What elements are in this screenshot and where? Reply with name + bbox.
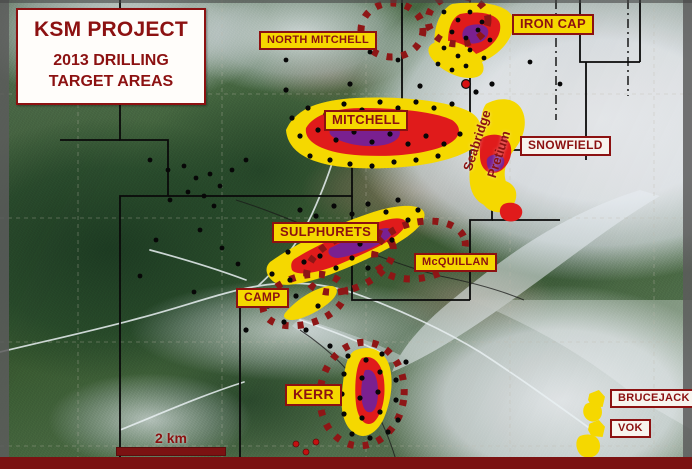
title-card: KSM PROJECT 2013 DRILLING TARGET AREAS [16,8,206,105]
target-label-kerr: KERR [285,384,342,406]
deposit-legend: BRUCEJACK VOK [588,387,686,447]
scale-bar-rule [116,447,226,456]
target-label-mcquillan: McQUILLAN [414,253,497,272]
title-main: KSM PROJECT [24,18,198,42]
target-label-snowfield: SNOWFIELD [520,136,611,156]
bottom-red-band [0,457,692,469]
map-figure: KSM PROJECT 2013 DRILLING TARGET AREAS N… [0,0,692,469]
legend-label-vok: VOK [610,419,651,438]
target-label-camp: CAMP [236,288,289,308]
scale-bar: 2 km [116,430,226,456]
legend-label-brucejack: BRUCEJACK [610,389,692,408]
target-label-north-mitchell: NORTH MITCHELL [259,31,377,50]
left-edge-strip [0,0,9,469]
legend-item-vok: VOK [588,417,686,441]
scale-bar-label: 2 km [116,430,226,446]
target-label-sulphurets: SULPHURETS [272,222,379,243]
mineralization-swatch-icon [588,420,605,437]
title-subtitle: 2013 DRILLING TARGET AREAS [24,51,198,93]
title-subtitle-line1: 2013 DRILLING [24,51,198,72]
mineralization-swatch-icon [588,390,605,407]
title-subtitle-line2: TARGET AREAS [24,72,198,93]
target-label-iron-cap: IRON CAP [512,14,594,35]
top-edge-strip [0,0,692,3]
legend-item-brucejack: BRUCEJACK [588,387,686,411]
target-label-mitchell: MITCHELL [324,110,408,131]
